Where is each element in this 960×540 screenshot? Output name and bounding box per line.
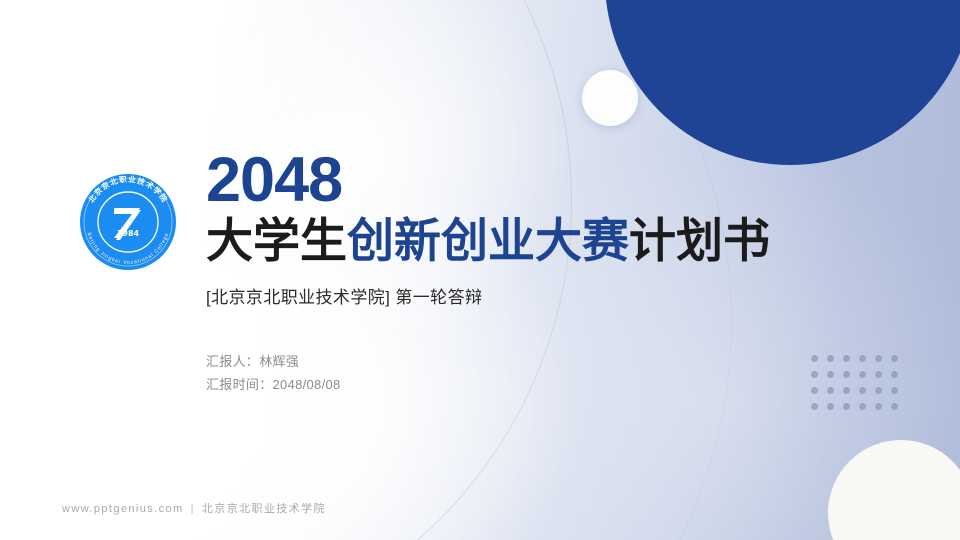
- svg-text:1984: 1984: [117, 229, 140, 238]
- main-title-part-3: 计划书: [629, 214, 770, 267]
- subtitle: [北京京北职业技术学院] 第一轮答辩: [206, 283, 826, 308]
- presentation-meta: 汇报人：林辉强 汇报时间：2048/08/08: [206, 350, 826, 396]
- year-heading: 2048: [206, 150, 826, 212]
- main-title-part-1: 大学生: [206, 214, 347, 267]
- decorative-blue-circle: [605, 0, 960, 165]
- presenter-line: 汇报人：林辉强: [206, 350, 826, 373]
- college-logo: 北京京北职业技术学院 Beijing Jingbei Vocational Co…: [70, 164, 186, 280]
- college-seal-icon: 北京京北职业技术学院 Beijing Jingbei Vocational Co…: [70, 164, 186, 280]
- footer-organization: 北京京北职业技术学院: [202, 503, 326, 515]
- decorative-white-circle-small: [582, 70, 638, 126]
- presentation-slide: 北京京北职业技术学院 Beijing Jingbei Vocational Co…: [0, 0, 960, 540]
- footer-separator: |: [191, 503, 195, 515]
- date-line: 汇报时间：2048/08/08: [206, 373, 826, 396]
- main-title: 大学生创新创业大赛计划书: [206, 214, 826, 268]
- footer-website: www.pptgenius.com: [62, 503, 184, 515]
- decorative-white-circle-large: [828, 440, 960, 540]
- title-block: 2048 大学生创新创业大赛计划书 [北京京北职业技术学院] 第一轮答辩 汇报人…: [206, 150, 826, 397]
- footer: www.pptgenius.com|北京京北职业技术学院: [62, 500, 326, 516]
- main-title-part-2-highlight: 创新创业大赛: [347, 214, 629, 267]
